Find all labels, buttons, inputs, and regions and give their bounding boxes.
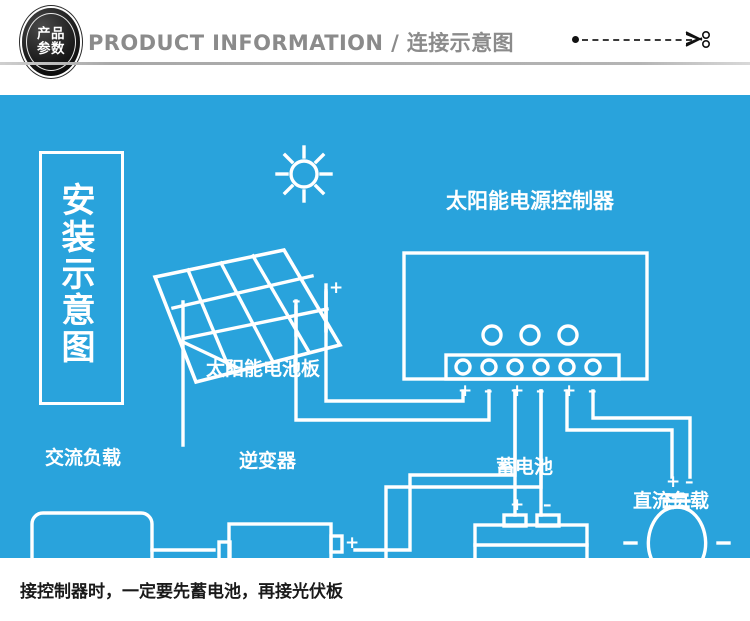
led-indicator <box>559 326 577 344</box>
product-information-page: 产品 参数 PRODUCT INFORMATION / 连接示意图 <box>0 0 750 621</box>
controller-terminal-sign-3: + <box>510 383 524 400</box>
battery-minus-sign: – <box>543 497 552 514</box>
controller-terminal-sign-5: + <box>562 383 576 400</box>
cut-line-decoration <box>572 30 712 48</box>
controller-box <box>404 253 647 379</box>
header-divider <box>0 62 750 65</box>
badge-line-1: 产品 <box>37 27 65 42</box>
page-title: PRODUCT INFORMATION / 连接示意图 <box>88 27 514 57</box>
vertical-title: 安装示意图 <box>39 151 118 399</box>
dot-icon <box>572 36 579 43</box>
inverter-plus-sign: + <box>345 535 359 552</box>
page-footer: 接控制器时，一定要先蓄电池，再接光伏板 <box>0 558 750 621</box>
battery-icon <box>475 515 587 558</box>
controller-terminal-sign-1: + <box>458 383 472 400</box>
page-header: 产品 参数 PRODUCT INFORMATION / 连接示意图 <box>0 0 750 95</box>
sun-icon <box>277 147 331 201</box>
product-spec-badge: 产品 参数 <box>22 8 80 76</box>
dc-load-plus-sign: + <box>666 474 680 491</box>
led-indicator <box>521 326 539 344</box>
ac-load-label: 交流负载 <box>45 443 121 470</box>
badge-line-2: 参数 <box>37 42 65 57</box>
led-indicator <box>483 326 501 344</box>
badge-text: 产品 参数 <box>22 8 80 76</box>
monitor-icon <box>32 513 152 558</box>
inverter-label: 逆变器 <box>239 446 296 473</box>
footer-note: 接控制器时，一定要先蓄电池，再接光伏板 <box>20 577 343 602</box>
battery-plus-sign: + <box>510 497 524 514</box>
solar-plus-sign: + <box>329 280 343 297</box>
solar-panel-label: 太阳能电池板 <box>206 354 320 381</box>
installation-diagram-panel: 安装示意图 太阳能电源控制器 太阳能电池板 交流负载 逆变器 蓄电池 直流负载 … <box>0 95 750 558</box>
controller-terminal-sign-2: – <box>484 383 493 400</box>
solar-minus-sign: – <box>292 293 301 310</box>
controller-title: 太阳能电源控制器 <box>446 185 614 215</box>
controller-terminal-sign-6: – <box>588 383 597 400</box>
dashed-line <box>582 39 692 41</box>
solar-panel-icon <box>155 250 340 445</box>
scissors-icon <box>682 26 712 52</box>
dc-load-minus-sign: – <box>685 474 694 491</box>
inverter-icon <box>219 524 342 558</box>
battery-label: 蓄电池 <box>496 452 553 479</box>
wire-dcload-to-controller <box>567 391 690 477</box>
controller-terminal-sign-4: – <box>536 383 545 400</box>
